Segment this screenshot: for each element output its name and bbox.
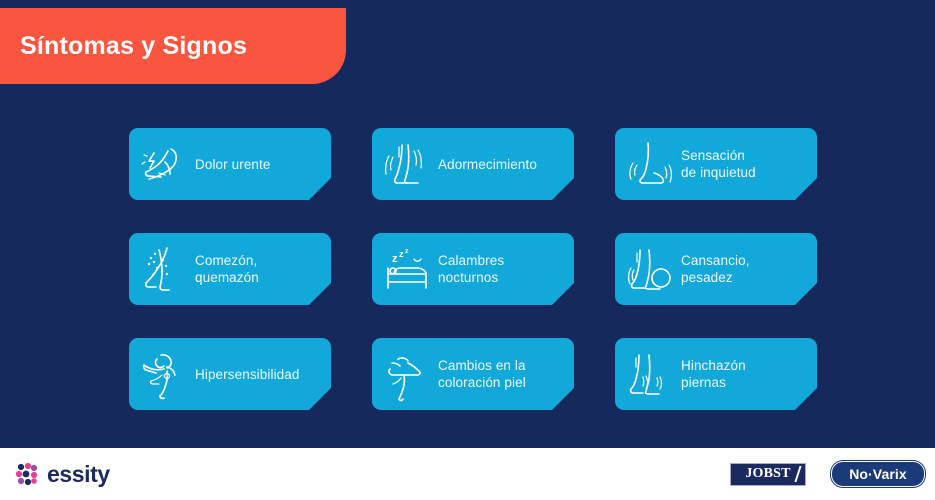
svg-text:z: z: [405, 248, 409, 255]
jobst-slash-icon: [794, 466, 801, 482]
symptom-card-label: Comezón, quemazón: [195, 252, 269, 286]
hand-touch-leg-icon: [137, 345, 195, 403]
symptom-card-label-line1: Hinchazón: [681, 357, 746, 374]
symptom-card-label-line2: de inquietud: [681, 164, 756, 181]
symptom-card-hipersensibilidad[interactable]: Hipersensibilidad: [129, 338, 331, 410]
symptom-card-label-line2: quemazón: [195, 269, 259, 286]
footer-bar: essity JOBST No·Varix: [0, 446, 935, 500]
symptom-card-adormecimiento[interactable]: Adormecimiento: [372, 128, 574, 200]
svg-text:z: z: [392, 253, 398, 265]
symptom-card-label-line2: coloración piel: [438, 374, 526, 391]
symptom-card-label: Calambres nocturnos: [438, 252, 514, 286]
symptom-card-dolor-urente[interactable]: Dolor urente: [129, 128, 331, 200]
symptoms-grid: Dolor urente Adormecimiento: [129, 128, 819, 410]
legs-vibration-icon: [380, 135, 438, 193]
symptom-card-label: Sensación de inquietud: [681, 147, 766, 181]
legs-swelling-icon: [623, 345, 681, 403]
jobst-wordmark: JOBST: [745, 466, 790, 482]
page-title: Síntomas y Signos: [20, 32, 247, 61]
essity-wordmark: essity: [47, 461, 110, 488]
symptom-card-label-line1: Cansancio,: [681, 252, 750, 269]
symptom-card-label-line2: pesadez: [681, 269, 750, 286]
leg-lightning-icon: [137, 135, 195, 193]
symptom-card-label-line1: Cambios en la: [438, 357, 526, 374]
symptom-card-hinchazon-piernas[interactable]: Hinchazón piernas: [615, 338, 817, 410]
slide-canvas: Síntomas y Signos Dolor urente: [0, 0, 935, 500]
symptom-card-label-line2: nocturnos: [438, 269, 504, 286]
foot-restless-icon: [623, 135, 681, 193]
novarix-wordmark: No·Varix: [849, 466, 907, 482]
symptom-card-label: Hinchazón piernas: [681, 357, 756, 391]
novarix-logo: No·Varix: [831, 461, 925, 487]
symptom-card-cambios-coloracion[interactable]: Cambios en la coloración piel: [372, 338, 574, 410]
essity-logo: essity: [14, 461, 110, 488]
hand-leg-color-icon: [380, 345, 438, 403]
symptom-card-label-line1: Calambres: [438, 252, 504, 269]
title-banner: Síntomas y Signos: [0, 8, 346, 84]
symptom-card-sensacion-inquietud[interactable]: Sensación de inquietud: [615, 128, 817, 200]
symptom-card-label-line1: Comezón,: [195, 252, 259, 269]
svg-text:z: z: [399, 249, 404, 259]
symptom-card-label: Cansancio, pesadez: [681, 252, 760, 286]
symptom-card-label: Hipersensibilidad: [195, 366, 310, 383]
essity-mark-icon: [14, 461, 40, 487]
legs-weight-icon: [623, 240, 681, 298]
symptom-card-calambres-nocturnos[interactable]: z z z Calambres nocturnos: [372, 233, 574, 305]
symptom-card-cansancio-pesadez[interactable]: Cansancio, pesadez: [615, 233, 817, 305]
symptom-card-label: Adormecimiento: [438, 156, 547, 173]
symptom-card-label-line2: piernas: [681, 374, 746, 391]
bed-sleep-icon: z z z: [380, 240, 438, 298]
jobst-logo: JOBST: [730, 463, 806, 486]
symptom-card-comezon-quemazon[interactable]: Comezón, quemazón: [129, 233, 331, 305]
symptom-card-label: Cambios en la coloración piel: [438, 357, 536, 391]
symptom-card-label: Dolor urente: [195, 156, 281, 173]
legs-itching-icon: [137, 240, 195, 298]
symptom-card-label-line1: Sensación: [681, 147, 756, 164]
